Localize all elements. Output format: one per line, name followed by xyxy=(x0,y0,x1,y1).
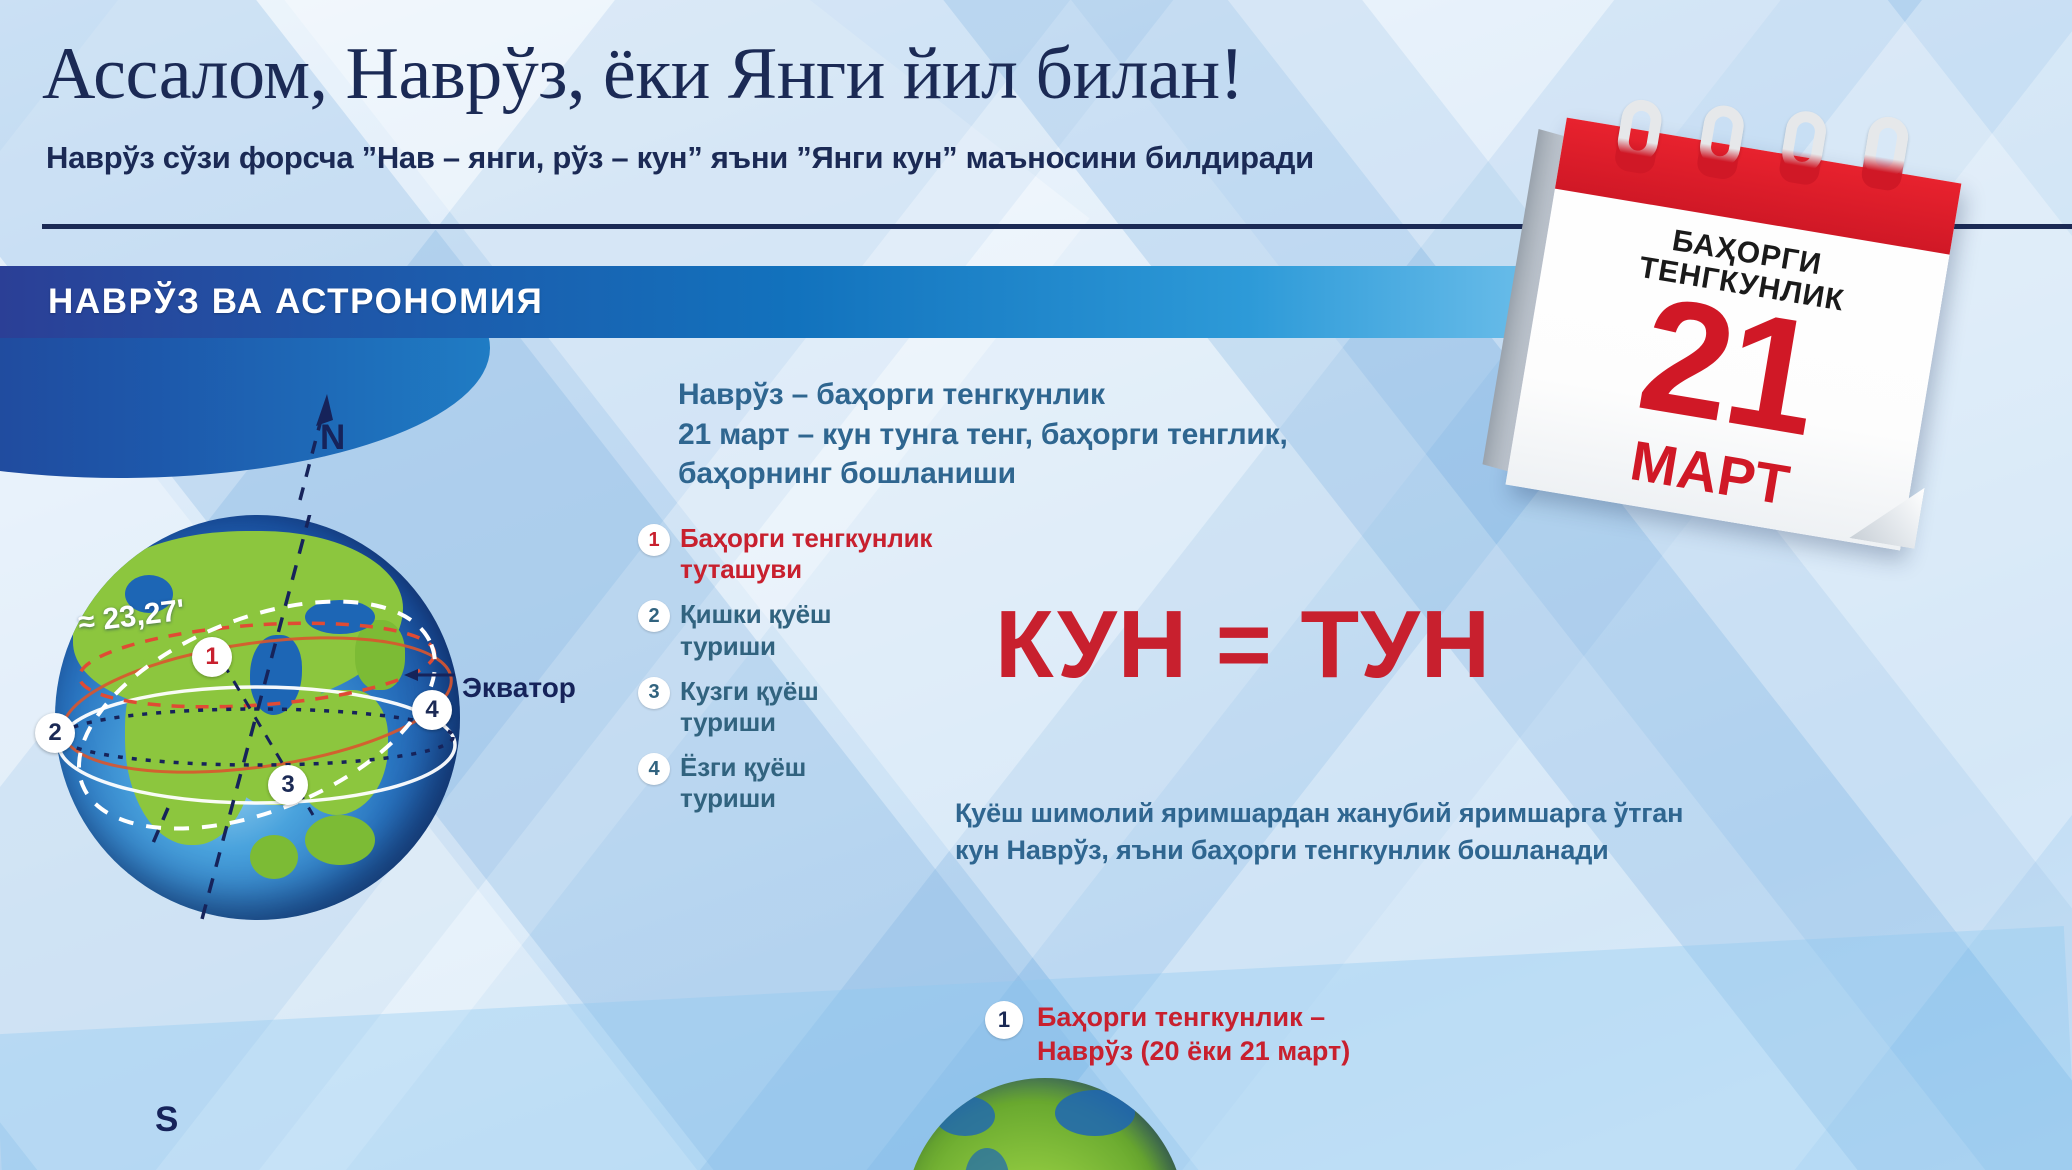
globe-point-1: 1 xyxy=(192,637,232,677)
calendar-graphic: БАҲОРГИ ТЕНГКУНЛИК 21 МАРТ xyxy=(1525,125,2045,545)
axis-label-north: N xyxy=(320,418,345,458)
legend-label: Қишки қуёш туриши xyxy=(680,599,831,661)
callout-number: 1 xyxy=(985,1001,1023,1039)
list-item: 2 Қишки қуёш туриши xyxy=(638,599,938,661)
ocean-detail xyxy=(965,1148,1009,1170)
list-item: 1 Баҳорги тенгкунлик туташуви xyxy=(638,523,938,585)
legend-label: Кузги қуёш туриши xyxy=(680,676,819,738)
day-equals-night-equation: КУН = ТУН xyxy=(995,590,1491,700)
globe-orbit-lines xyxy=(55,515,460,920)
page-subtitle: Наврўз сўзи форсча ”Нав – янги, рўз – ку… xyxy=(46,140,1314,176)
ocean-detail xyxy=(1055,1090,1135,1136)
intro-paragraph: Наврўз – баҳорги тенгкунлик 21 март – ку… xyxy=(678,375,1288,494)
legend-number: 3 xyxy=(638,677,670,709)
globe-point-4: 4 xyxy=(412,690,452,730)
callout-label: Баҳорги тенгкунлик – Наврўз (20 ёки 21 м… xyxy=(1037,1000,1350,1068)
legend-number: 4 xyxy=(638,753,670,785)
axis-label-south: S xyxy=(155,1100,178,1140)
ocean-detail xyxy=(935,1096,995,1136)
globe-point-3: 3 xyxy=(268,765,308,805)
banner-swoosh-decoration xyxy=(0,336,560,481)
legend-label: Ёзги қуёш туриши xyxy=(680,752,806,814)
page-title: Ассалом, Наврўз, ёки Янги йил билан! xyxy=(42,32,1244,117)
spring-equinox-callout: 1 Баҳорги тенгкунлик – Наврўз (20 ёки 21… xyxy=(985,1000,1350,1068)
equator-label: Экватор xyxy=(462,672,576,704)
earth-globe-diagram: 1 2 3 4 xyxy=(30,505,670,935)
section-banner-label: НАВРЎЗ ВА АСТРОНОМИЯ xyxy=(48,282,543,322)
legend-label: Баҳорги тенгкунлик туташуви xyxy=(680,523,932,585)
explanatory-note: Қуёш шимолий яримшардан жанубий яримшарг… xyxy=(955,795,1683,870)
list-item: 4 Ёзги қуёш туриши xyxy=(638,752,938,814)
calendar-rotation-wrapper: БАҲОРГИ ТЕНГКУНЛИК 21 МАРТ xyxy=(1495,92,1985,557)
legend-number: 1 xyxy=(638,524,670,556)
list-item: 3 Кузги қуёш туриши xyxy=(638,676,938,738)
legend-list: 1 Баҳорги тенгкунлик туташуви 2 Қишки қу… xyxy=(638,523,938,829)
globe-point-2: 2 xyxy=(35,713,75,753)
legend-number: 2 xyxy=(638,600,670,632)
